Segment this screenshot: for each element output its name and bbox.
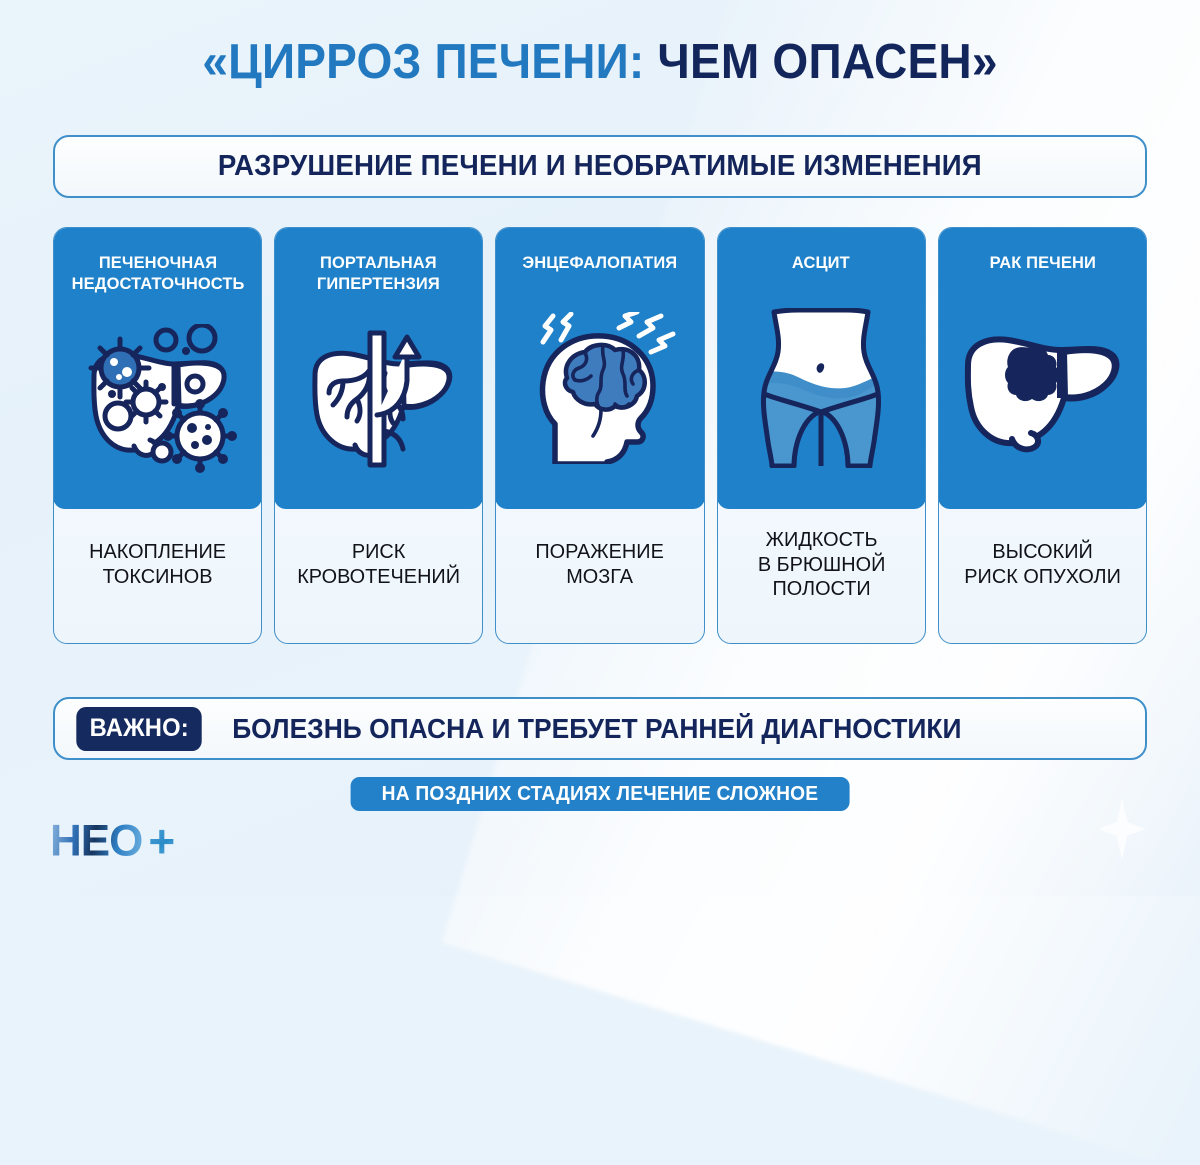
important-text: БОЛЕЗНЬ ОПАСНА И ТРЕБУЕТ РАННЕЙ ДИАГНОСТ… bbox=[233, 713, 962, 745]
subtitle-text: РАЗРУШЕНИЕ ПЕЧЕНИ И НЕОБРАТИМЫЕ ИЗМЕНЕНИ… bbox=[218, 150, 982, 183]
card-liver-failure[interactable]: ПЕЧЕНОЧНАЯ НЕДОСТАТОЧНОСТЬ bbox=[53, 227, 262, 644]
infographic-page: «ЦИРРОЗ ПЕЧЕНИ: ЧЕМ ОПАСЕН» РАЗРУШЕНИЕ П… bbox=[0, 0, 1200, 896]
note-banner: НА ПОЗДНИХ СТАДИЯХ ЛЕЧЕНИЕ СЛОЖНОЕ bbox=[351, 777, 850, 811]
note-text: НА ПОЗДНИХ СТАДИЯХ ЛЕЧЕНИЕ СЛОЖНОЕ bbox=[382, 783, 819, 806]
important-banner: ВАЖНО: БОЛЕЗНЬ ОПАСНА И ТРЕБУЕТ РАННЕЙ Д… bbox=[53, 697, 1147, 760]
head-brain-icon bbox=[495, 274, 704, 509]
brand-logo-plus-icon: + bbox=[148, 814, 175, 868]
card-caption: РИСК КРОВОТЕЧЕНИЙ bbox=[278, 509, 479, 643]
card-caption: ЖИДКОСТЬ В БРЮШНОЙ ПОЛОСТИ bbox=[721, 509, 922, 643]
card-encephalopathy[interactable]: ЭНЦЕФАЛОПАТИЯ bbox=[495, 227, 704, 644]
brand-logo[interactable]: НЕО + bbox=[50, 814, 175, 868]
complication-cards: ПЕЧЕНОЧНАЯ НЕДОСТАТОЧНОСТЬ bbox=[53, 227, 1147, 644]
card-header: ПЕЧЕНОЧНАЯ НЕДОСТАТОЧНОСТЬ bbox=[53, 227, 262, 509]
page-title-dark: ЧЕМ ОПАСЕН» bbox=[644, 35, 997, 89]
card-caption: ВЫСОКИЙ РИСК ОПУХОЛИ bbox=[942, 509, 1143, 643]
card-title: ПОРТАЛЬНАЯ ГИПЕРТЕНЗИЯ bbox=[312, 227, 447, 294]
page-title-highlight: «ЦИРРОЗ ПЕЧЕНИ: bbox=[202, 35, 644, 89]
card-header: АСЦИТ bbox=[717, 227, 926, 509]
liver-portal-vein-arrow-icon bbox=[274, 294, 483, 509]
page-title: «ЦИРРОЗ ПЕЧЕНИ: ЧЕМ ОПАСЕН» bbox=[36, 34, 1164, 90]
card-caption: НАКОПЛЕНИЕ ТОКСИНОВ bbox=[57, 509, 258, 643]
card-header: ПОРТАЛЬНАЯ ГИПЕРТЕНЗИЯ bbox=[274, 227, 483, 509]
card-portal-hypertension[interactable]: ПОРТАЛЬНАЯ ГИПЕРТЕНЗИЯ bbox=[274, 227, 483, 644]
card-title: ПЕЧЕНОЧНАЯ НЕДОСТАТОЧНОСТЬ bbox=[65, 227, 249, 294]
card-title: ЭНЦЕФАЛОПАТИЯ bbox=[517, 227, 683, 274]
subtitle-banner: РАЗРУШЕНИЕ ПЕЧЕНИ И НЕОБРАТИМЫЕ ИЗМЕНЕНИ… bbox=[53, 135, 1147, 198]
card-caption: ПОРАЖЕНИЕ МОЗГА bbox=[500, 509, 701, 643]
card-title: АСЦИТ bbox=[786, 227, 856, 274]
important-badge: ВАЖНО: bbox=[76, 707, 202, 751]
abdomen-fluid-icon bbox=[717, 274, 926, 509]
card-ascites[interactable]: АСЦИТ bbox=[717, 227, 926, 644]
liver-with-viruses-icon bbox=[53, 294, 262, 509]
liver-tumor-icon bbox=[938, 274, 1147, 509]
card-liver-cancer[interactable]: РАК ПЕЧЕНИ ВЫСОКИЙ РИСК ОПУХОЛИ bbox=[938, 227, 1147, 644]
card-header: ЭНЦЕФАЛОПАТИЯ bbox=[495, 227, 704, 509]
card-title: РАК ПЕЧЕНИ bbox=[983, 227, 1101, 274]
card-header: РАК ПЕЧЕНИ bbox=[938, 227, 1147, 509]
brand-logo-name: НЕО bbox=[50, 816, 142, 867]
